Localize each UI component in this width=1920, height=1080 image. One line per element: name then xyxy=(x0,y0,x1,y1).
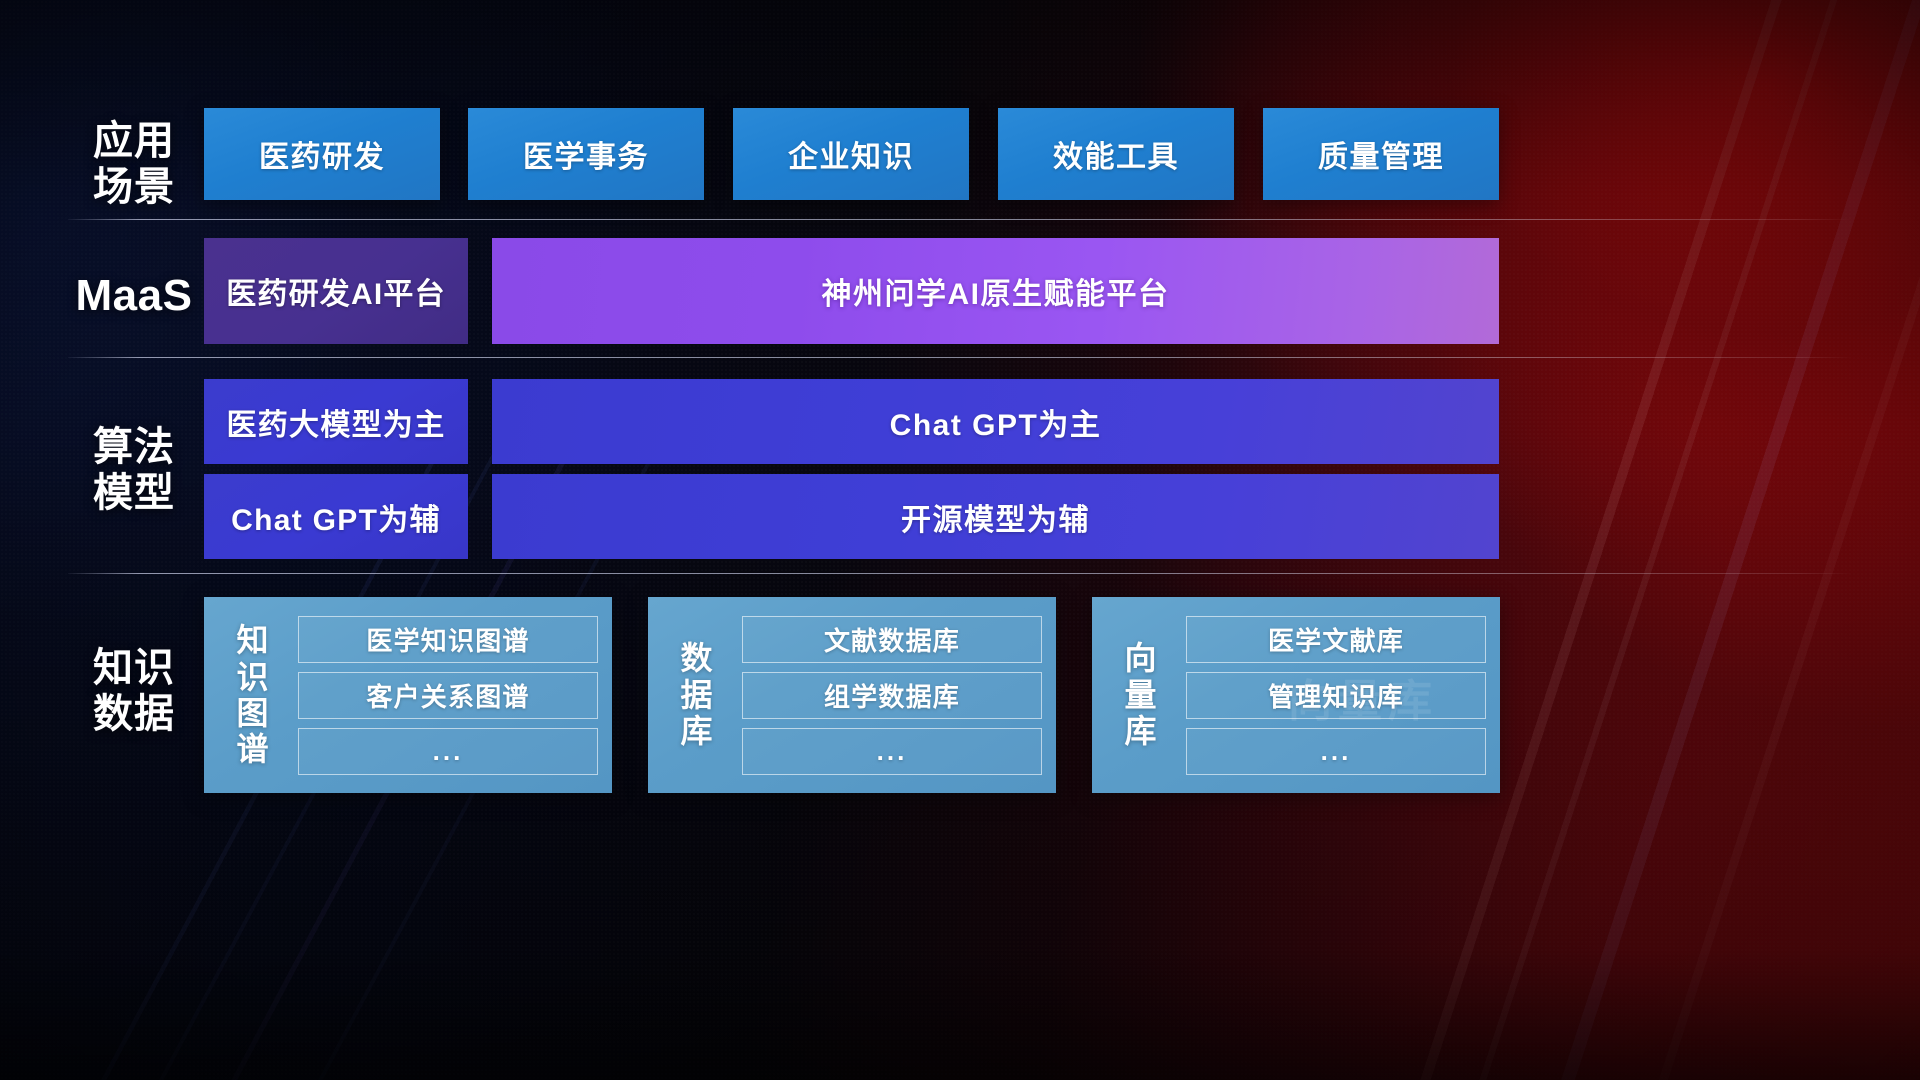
algo-box-chatgpt-primary-label: Chat GPT为主 xyxy=(890,400,1102,444)
algo-box-drug-llm-primary-label: 医药大模型为主 xyxy=(226,400,445,444)
knowledge-item-more[interactable]: ... xyxy=(298,728,598,775)
knowledge-item[interactable]: 文献数据库 xyxy=(742,616,1042,663)
maas-box-shenzhou-platform[interactable]: 神州问学AI原生赋能平台 xyxy=(492,238,1499,344)
app-box-1-label: 医药研发 xyxy=(259,132,385,176)
knowledge-item-more[interactable]: ... xyxy=(1186,728,1486,775)
knowledge-item[interactable]: 医学文献库 xyxy=(1186,616,1486,663)
knowledge-group-database[interactable]: 数 据 库 文献数据库 组学数据库 ... xyxy=(648,597,1056,793)
app-box-4[interactable]: 效能工具 xyxy=(998,108,1234,200)
app-box-3-label: 企业知识 xyxy=(788,132,914,176)
algo-box-opensource-secondary-label: 开源模型为辅 xyxy=(901,495,1090,539)
knowledge-item[interactable]: 管理知识库 xyxy=(1186,672,1486,719)
row-label-maas: MaaS xyxy=(70,270,198,321)
maas-box-drug-rd-platform[interactable]: 医药研发AI平台 xyxy=(204,238,468,344)
divider-3 xyxy=(68,573,1852,574)
knowledge-group-database-items: 文献数据库 组学数据库 ... xyxy=(742,616,1042,775)
architecture-stack: 应用 场景 医药研发 医学事务 企业知识 效能工具 质量管理 MaaS 医药研发… xyxy=(0,0,1920,1080)
maas-box-drug-rd-platform-label: 医药研发AI平台 xyxy=(226,269,446,313)
knowledge-group-knowledge-graph[interactable]: 知 识 图 谱 医学知识图谱 客户关系图谱 ... xyxy=(204,597,612,793)
app-box-1[interactable]: 医药研发 xyxy=(204,108,440,200)
knowledge-item[interactable]: 医学知识图谱 xyxy=(298,616,598,663)
row-label-knowledge-data: 知识 数据 xyxy=(70,645,198,738)
knowledge-item[interactable]: 客户关系图谱 xyxy=(298,672,598,719)
row-label-algorithm-model: 算法 模型 xyxy=(70,424,198,517)
knowledge-group-vector-db-items: 医学文献库 管理知识库 ... xyxy=(1186,616,1486,775)
divider-1 xyxy=(68,219,1852,220)
algo-box-chatgpt-secondary[interactable]: Chat GPT为辅 xyxy=(204,474,468,559)
app-box-2-label: 医学事务 xyxy=(523,132,649,176)
app-box-3[interactable]: 企业知识 xyxy=(733,108,969,200)
algo-box-chatgpt-primary[interactable]: Chat GPT为主 xyxy=(492,379,1499,464)
app-box-5-label: 质量管理 xyxy=(1318,132,1444,176)
app-box-2[interactable]: 医学事务 xyxy=(468,108,704,200)
knowledge-item[interactable]: 组学数据库 xyxy=(742,672,1042,719)
diagram-canvas: 应用 场景 医药研发 医学事务 企业知识 效能工具 质量管理 MaaS 医药研发… xyxy=(0,0,1920,1080)
knowledge-group-vector-db[interactable]: 向 量 库 医学文献库 管理知识库 ... 向量库 xyxy=(1092,597,1500,793)
knowledge-group-database-title: 数 据 库 xyxy=(666,640,728,749)
row-label-application-scenarios: 应用 场景 xyxy=(70,118,198,211)
app-box-5[interactable]: 质量管理 xyxy=(1263,108,1499,200)
knowledge-group-knowledge-graph-title: 知 识 图 谱 xyxy=(222,622,284,768)
knowledge-group-vector-db-title: 向 量 库 xyxy=(1110,640,1172,749)
divider-2 xyxy=(68,357,1852,358)
maas-box-shenzhou-platform-label: 神州问学AI原生赋能平台 xyxy=(822,269,1170,313)
algo-box-chatgpt-secondary-label: Chat GPT为辅 xyxy=(231,495,441,539)
knowledge-group-knowledge-graph-items: 医学知识图谱 客户关系图谱 ... xyxy=(298,616,598,775)
app-box-4-label: 效能工具 xyxy=(1053,132,1179,176)
algo-box-opensource-secondary[interactable]: 开源模型为辅 xyxy=(492,474,1499,559)
algo-box-drug-llm-primary[interactable]: 医药大模型为主 xyxy=(204,379,468,464)
knowledge-item-more[interactable]: ... xyxy=(742,728,1042,775)
